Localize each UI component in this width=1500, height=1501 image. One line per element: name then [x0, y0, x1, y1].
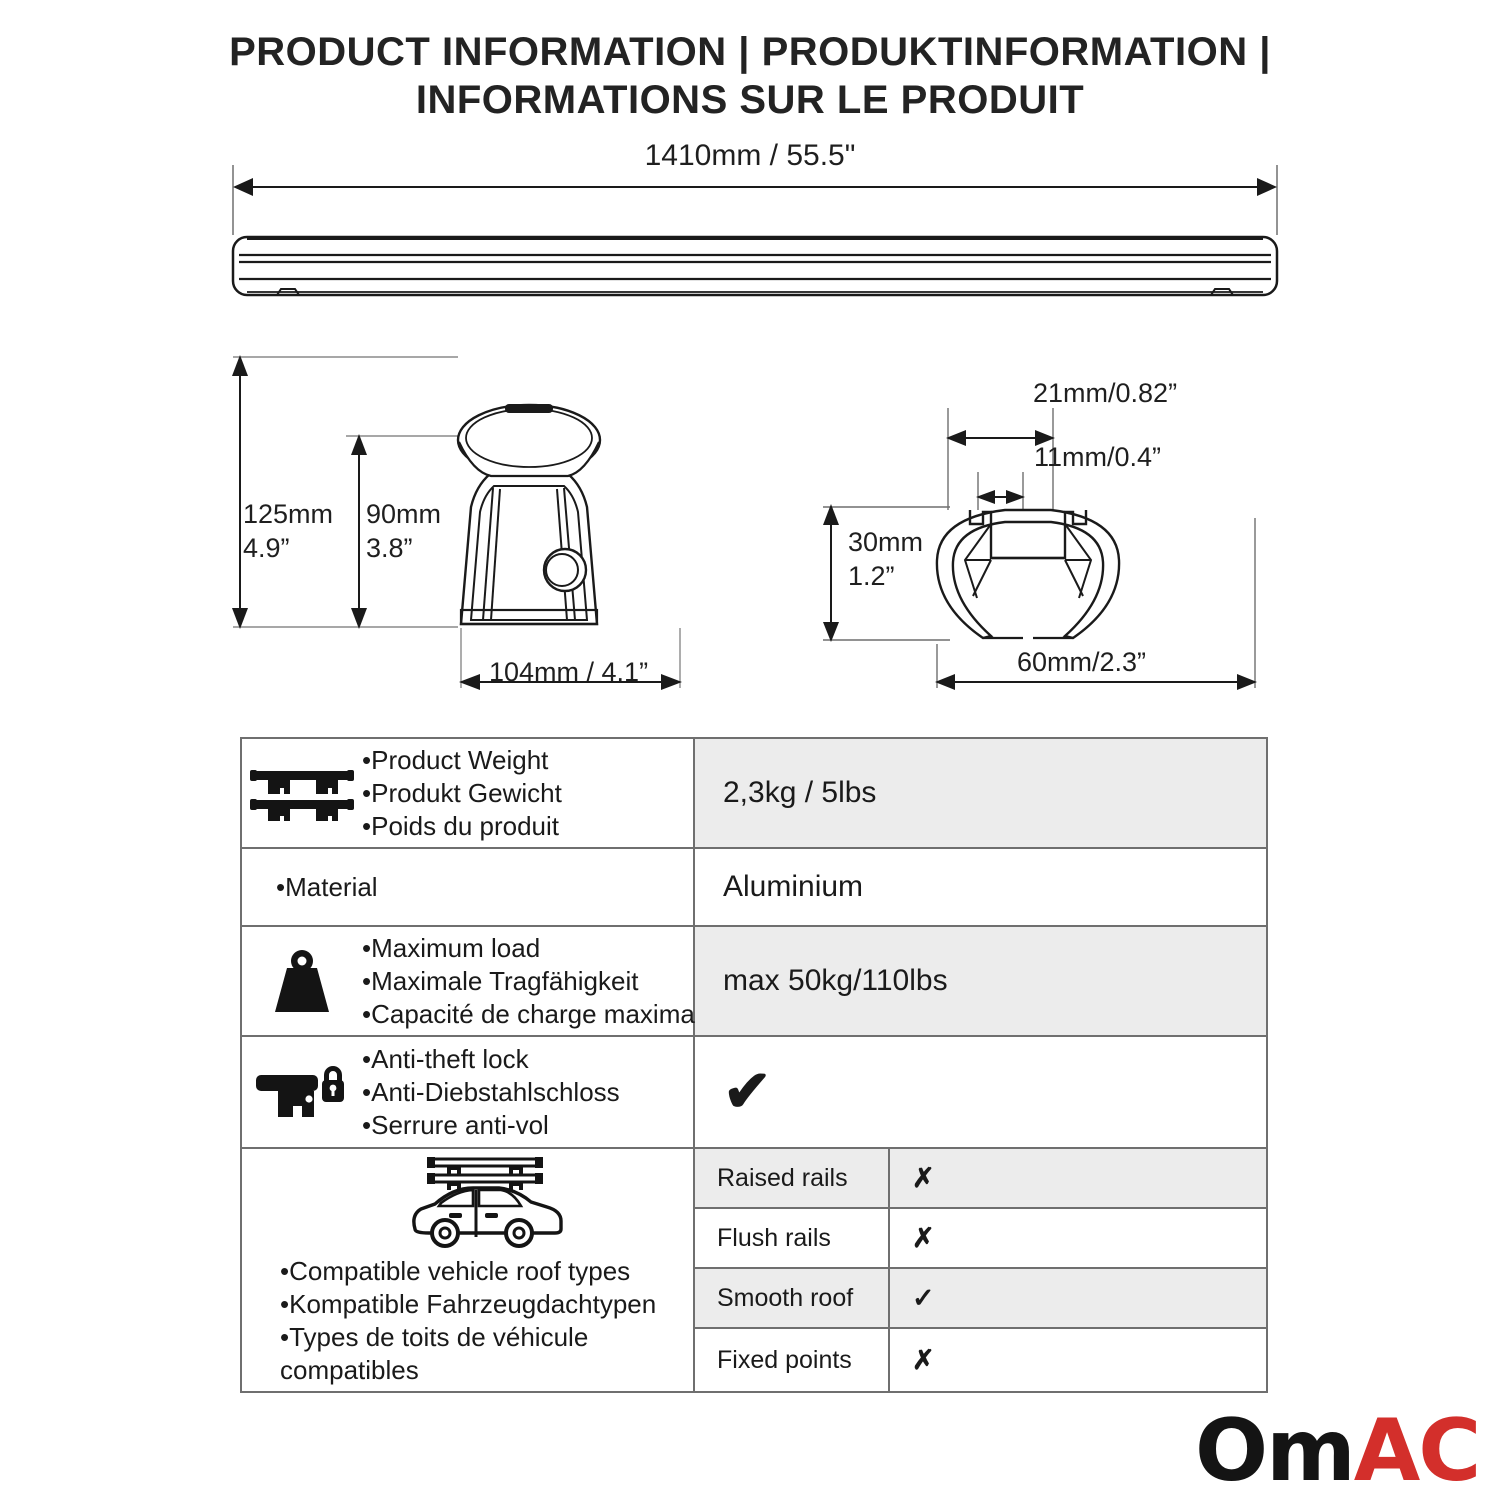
label-de: •Produkt Gewicht	[362, 777, 562, 810]
label-de: •Maximale Tragfähigkeit	[362, 965, 715, 998]
omac-logo: OmAC	[1195, 1408, 1479, 1494]
label-en: •Material	[276, 871, 378, 904]
profile-slot-outer-label: 21mm/0.82”	[1033, 376, 1177, 410]
table-row: •Compatible vehicle roof types •Kompatib…	[242, 1149, 1266, 1391]
roof-type-row: Raised rails ✗	[695, 1149, 1266, 1209]
max-load-value: max 50kg/110lbs	[723, 964, 948, 998]
product-weight-value: 2,3kg / 5lbs	[723, 776, 876, 810]
title-line-1: PRODUCT INFORMATION | PRODUKTINFORMATION…	[0, 28, 1500, 76]
row-value-cell: ✔	[695, 1037, 1266, 1147]
label-en: •Product Weight	[362, 744, 562, 777]
logo-text-black: Om	[1195, 1401, 1354, 1501]
row-label-text: •Compatible vehicle roof types •Kompatib…	[276, 1255, 656, 1387]
label-en: •Compatible vehicle roof types	[280, 1255, 656, 1288]
anti-theft-check-icon: ✔	[723, 1063, 772, 1121]
material-value: Aluminium	[723, 870, 863, 904]
weight-icon	[242, 948, 362, 1014]
table-row: •Anti-theft lock •Anti-Diebstahlschloss …	[242, 1037, 1266, 1149]
profile-width-label: 60mm/2.3”	[1017, 645, 1146, 679]
roof-type-row: Smooth roof ✓	[695, 1269, 1266, 1329]
row-label-text: •Product Weight •Produkt Gewicht •Poids …	[362, 744, 562, 843]
table-row: •Product Weight •Produkt Gewicht •Poids …	[242, 739, 1266, 849]
table-row: •Maximum load •Maximale Tragfähigkeit •C…	[242, 927, 1266, 1037]
roof-type-name: Raised rails	[695, 1149, 890, 1207]
page-title: PRODUCT INFORMATION | PRODUKTINFORMATION…	[0, 28, 1500, 124]
roof-type-subtable: Raised rails ✗ Flush rails ✗ Smooth roof…	[695, 1149, 1266, 1391]
table-row: •Material Aluminium	[242, 849, 1266, 927]
label-de: •Kompatible Fahrzeugdachtypen	[280, 1288, 656, 1321]
product-spec-table: •Product Weight •Produkt Gewicht •Poids …	[240, 737, 1268, 1393]
car-with-bars-icon	[276, 1153, 693, 1249]
lock-icon	[242, 1061, 362, 1123]
profile-slot-inner-label: 11mm/0.4”	[1034, 440, 1161, 474]
roof-type-row: Flush rails ✗	[695, 1209, 1266, 1269]
roof-type-mark: ✗	[890, 1209, 1266, 1267]
row-value-cell: Aluminium	[695, 849, 1266, 925]
label-fr: •Capacité de charge maximale	[362, 998, 715, 1031]
row-value-cell: max 50kg/110lbs	[695, 927, 1266, 1035]
roof-type-name: Fixed points	[695, 1329, 890, 1391]
row-label-cell: •Product Weight •Produkt Gewicht •Poids …	[242, 739, 695, 847]
roof-type-name: Flush rails	[695, 1209, 890, 1267]
profile-height-label: 30mm1.2”	[848, 525, 923, 593]
roof-type-mark: ✓	[890, 1269, 1266, 1327]
title-line-2: INFORMATIONS SUR LE PRODUIT	[0, 76, 1500, 124]
row-value-cell: 2,3kg / 5lbs	[695, 739, 1266, 847]
roof-type-mark: ✗	[890, 1149, 1266, 1207]
label-fr: •Types de toits de véhicule	[280, 1321, 656, 1354]
roof-type-mark: ✗	[890, 1329, 1266, 1391]
label-en: •Maximum load	[362, 932, 715, 965]
row-label-text: •Anti-theft lock •Anti-Diebstahlschloss …	[362, 1043, 620, 1142]
row-label-cell: •Maximum load •Maximale Tragfähigkeit •C…	[242, 927, 695, 1035]
label-fr: •Serrure anti-vol	[362, 1109, 620, 1142]
row-label-text: •Maximum load •Maximale Tragfähigkeit •C…	[362, 932, 715, 1031]
crossbars-icon	[242, 765, 362, 821]
roof-type-name: Smooth roof	[695, 1269, 890, 1327]
label-de: •Anti-Diebstahlschloss	[362, 1076, 620, 1109]
label-fr-cont: compatibles	[280, 1354, 656, 1387]
roof-type-row: Fixed points ✗	[695, 1329, 1266, 1391]
foot-height-total-label: 125mm4.9”	[243, 497, 333, 565]
row-label-cell: •Compatible vehicle roof types •Kompatib…	[242, 1149, 695, 1391]
row-label-cell: •Material	[242, 849, 695, 925]
foot-height-inner-label: 90mm3.8”	[366, 497, 441, 565]
label-fr: •Poids du produit	[362, 810, 562, 843]
roof-bar-drawing	[225, 165, 1285, 310]
label-en: •Anti-theft lock	[362, 1043, 620, 1076]
row-label-text: •Material	[276, 871, 378, 904]
row-label-cell: •Anti-theft lock •Anti-Diebstahlschloss …	[242, 1037, 695, 1147]
logo-text-red: AC	[1354, 1401, 1480, 1501]
foot-width-label: 104mm / 4.1”	[489, 655, 648, 689]
